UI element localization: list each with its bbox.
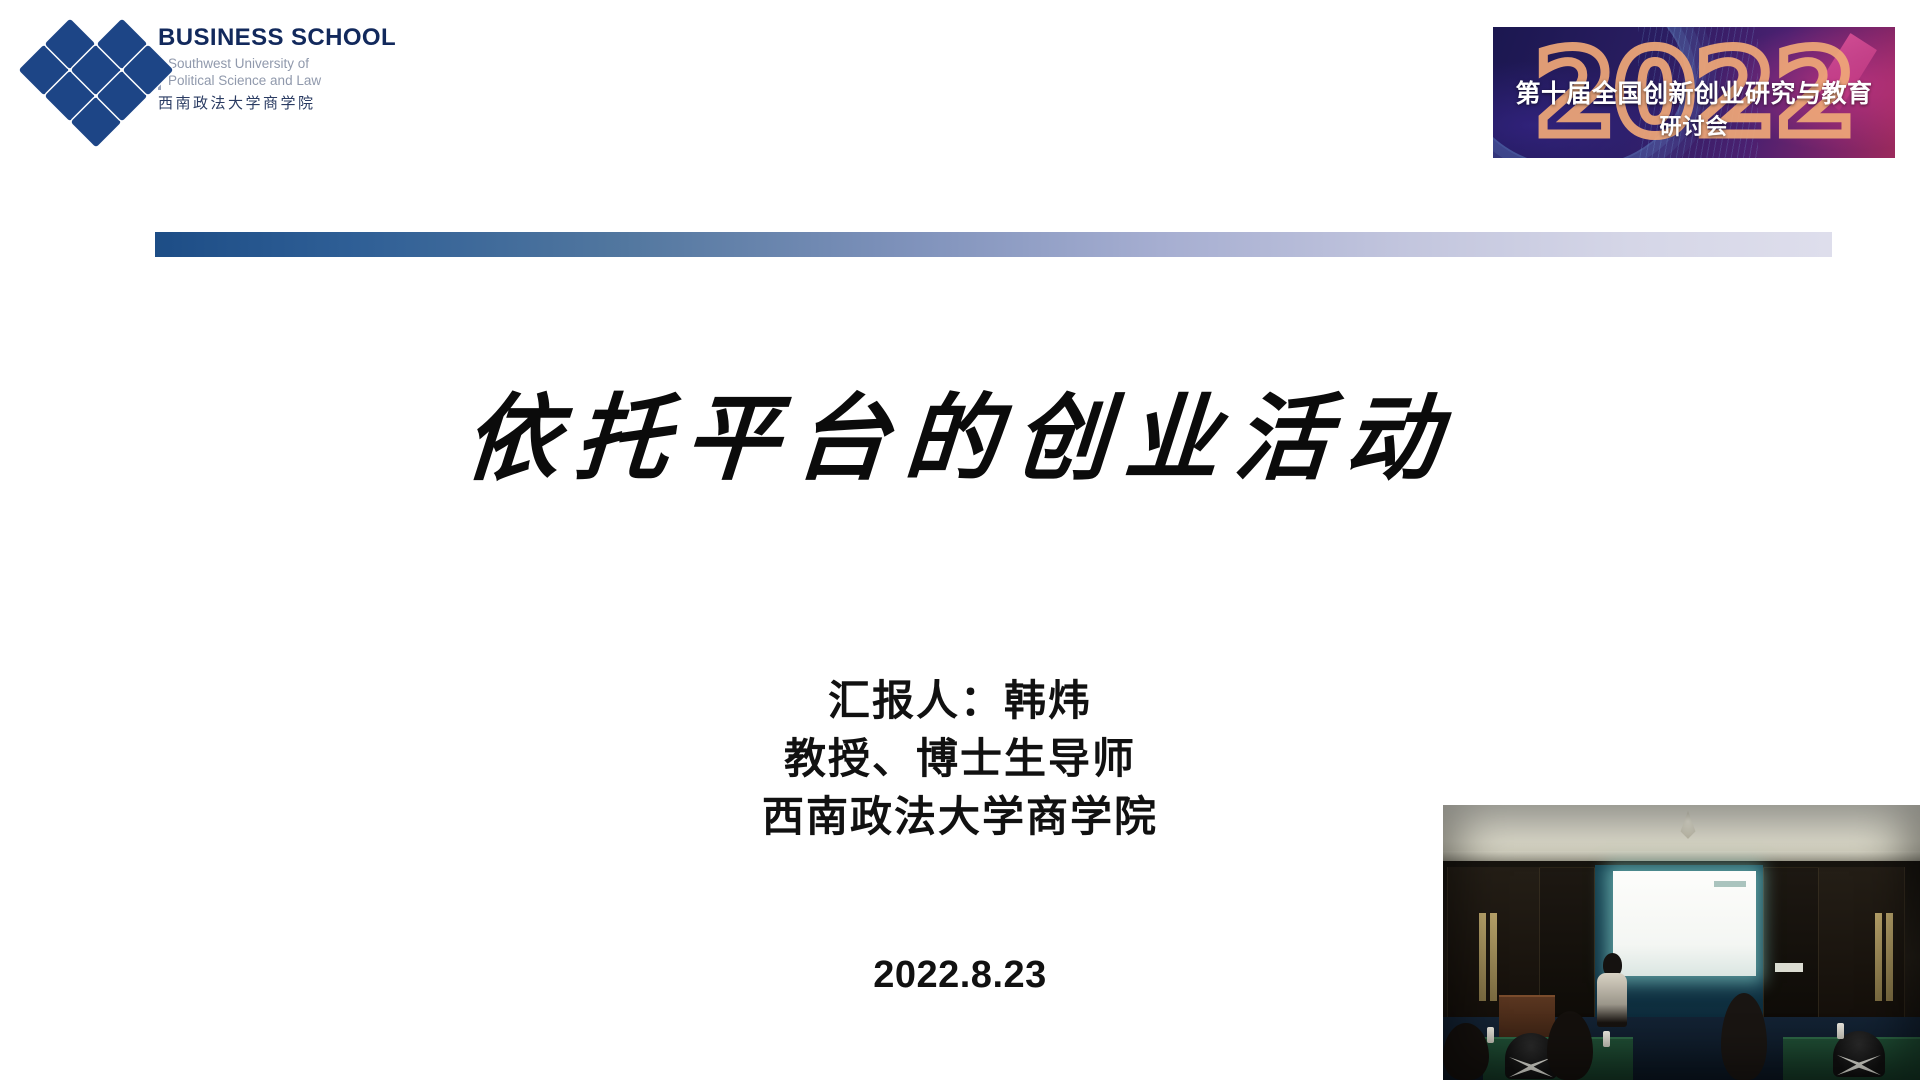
banner-title-line-1: 第十届全国创新创业研究与教育 bbox=[1493, 74, 1895, 110]
logo-text-block: BUSINESS SCHOOL Southwest University of … bbox=[158, 18, 396, 111]
conference-banner: 2022 第十届全国创新创业研究与教育 研讨会 bbox=[1493, 27, 1895, 158]
diamond-mark-icon bbox=[18, 18, 150, 130]
logo-title-english: BUSINESS SCHOOL bbox=[158, 26, 396, 50]
presenter-title-line: 教授、博士生导师 bbox=[0, 730, 1920, 788]
logo-subtitle-block: Southwest University of Political Scienc… bbox=[158, 55, 396, 90]
pip-speaker-body bbox=[1597, 973, 1627, 1027]
pip-gold-trim bbox=[1490, 913, 1497, 1001]
pip-gold-trim bbox=[1479, 913, 1486, 1001]
banner-title-line-2: 研讨会 bbox=[1493, 109, 1895, 141]
slide-title: 依托平台的创业活动 bbox=[0, 388, 1920, 491]
presentation-slide: BUSINESS SCHOOL Southwest University of … bbox=[0, 0, 1920, 1080]
video-pip-conference-room[interactable] bbox=[1443, 805, 1920, 1080]
pip-screen-content bbox=[1714, 881, 1746, 887]
gradient-divider-bar bbox=[155, 232, 1832, 257]
pip-gold-trim bbox=[1886, 913, 1893, 1001]
logo-title-chinese: 西南政法大学商学院 bbox=[158, 96, 396, 111]
pip-door-sign bbox=[1775, 963, 1803, 972]
pip-water-bottle bbox=[1487, 1027, 1494, 1043]
pip-gold-trim bbox=[1875, 913, 1882, 1001]
presenter-name-line: 汇报人：韩炜 bbox=[0, 672, 1920, 730]
pip-water-bottle bbox=[1603, 1031, 1610, 1047]
pip-water-bottle bbox=[1837, 1023, 1844, 1039]
logo-subtitle-line-2: Political Science and Law bbox=[168, 72, 396, 89]
pip-projection-screen bbox=[1613, 871, 1756, 976]
pip-door-right bbox=[1763, 867, 1819, 1021]
university-logo: BUSINESS SCHOOL Southwest University of … bbox=[18, 18, 418, 133]
logo-subtitle-line-1: Southwest University of bbox=[168, 55, 396, 72]
